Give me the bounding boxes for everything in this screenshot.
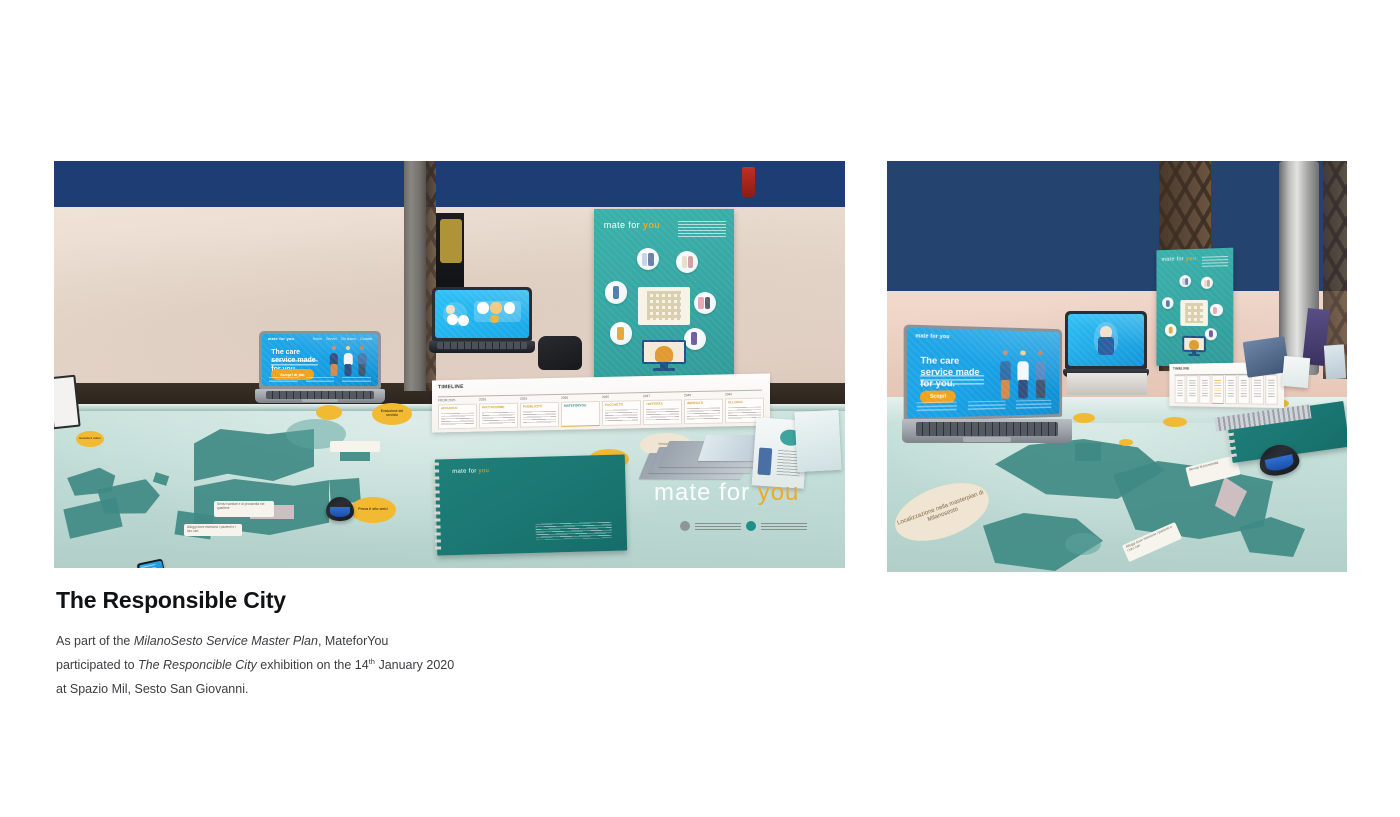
timeline-columns xyxy=(1175,375,1278,405)
bubble-try-site: Prova il sito web! xyxy=(350,497,396,523)
site-nav-links[interactable]: Home Servizi Chi siamo Contatti xyxy=(313,337,372,341)
timeline-card: IMPIEGATI xyxy=(684,398,723,424)
bubble-dot-d xyxy=(1119,439,1133,446)
caption-paragraph: As part of the MilanoSesto Service Maste… xyxy=(56,629,676,701)
laptop-screen[interactable]: mate for you Home Servizi Chi siamo Cont… xyxy=(262,334,378,386)
site-subtext xyxy=(271,360,317,366)
persona-node xyxy=(610,322,632,344)
sponsor-logo-text xyxy=(695,523,741,530)
truss-beam xyxy=(426,161,436,391)
laptop-keyboard[interactable] xyxy=(916,422,1058,436)
backpack xyxy=(538,336,582,370)
photo-exhibition-wide: Localizzazione nella masterplan di Milan… xyxy=(54,161,845,568)
laptop-website: mate for you Home Servizi Chi siamo Cont… xyxy=(259,331,381,403)
caption-block: The Responsible City As part of the Mila… xyxy=(56,588,676,701)
caption-line1-post: , MateforYou xyxy=(318,634,388,648)
timeline-card: AFFIANCO xyxy=(438,404,477,430)
laptop-trackpad[interactable] xyxy=(963,437,1010,442)
poster-monitor-illustration xyxy=(642,340,686,371)
laptop-presentation xyxy=(432,287,532,353)
site-headline: The care service made for you. xyxy=(271,349,322,375)
blue-wall-panels xyxy=(887,161,1347,309)
laptop-lid: mate for you The care service made for y… xyxy=(904,324,1062,421)
poster-mate-for-you: mate for you xyxy=(594,209,734,387)
bubble-dot-a xyxy=(1073,413,1095,423)
timeline-columns: FROM 2025 AFFIANCO 2028 PIATTAFORME 2029… xyxy=(438,392,764,430)
sponsor-logo-icon xyxy=(746,521,756,531)
caption-line2-mid: exhibition on the 14 xyxy=(257,658,369,672)
nav-link[interactable]: Home xyxy=(313,337,322,341)
site-illustration-people xyxy=(328,345,370,375)
fire-extinguisher-icon xyxy=(742,167,755,197)
page-root: Localizzazione nella masterplan di Milan… xyxy=(0,0,1400,817)
timeline-card: PUBBLICITÀ xyxy=(520,402,559,428)
site-cta-button[interactable]: Scopri di più xyxy=(271,369,313,380)
person-illustration xyxy=(998,349,1013,399)
persona-node xyxy=(694,292,716,314)
persona-node xyxy=(676,251,698,273)
persona-node xyxy=(1179,275,1191,287)
laptop-presentation xyxy=(1065,311,1147,377)
brochure-small xyxy=(1282,356,1311,388)
caption-line2-post: January 2020 xyxy=(375,658,454,672)
poster-logo: mate for you xyxy=(604,220,660,230)
computer-mouse[interactable] xyxy=(326,497,354,521)
timeline-card: PIATTAFORME xyxy=(479,403,518,429)
laptop-lid: mate for you Home Servizi Chi siamo Cont… xyxy=(259,331,381,389)
site-illustration-people xyxy=(998,349,1050,399)
laptop-base xyxy=(255,389,384,403)
site-headline: The care service made for you. xyxy=(920,355,990,390)
persona-node xyxy=(1165,324,1177,336)
standee-light xyxy=(1324,344,1346,379)
page-title: The Responsible City xyxy=(56,588,676,613)
photo-exhibition-angled: Localizzazione nella masterplan di Milan… xyxy=(887,161,1347,572)
persona-node xyxy=(1210,304,1222,317)
sponsor-logo-strip xyxy=(680,521,807,531)
laptop-website: mate for you The care service made for y… xyxy=(907,327,1067,443)
poster-persona-ring xyxy=(1161,274,1229,361)
laptop-screen[interactable] xyxy=(435,290,529,338)
timeline-column: 2030 MATEFORYOU xyxy=(561,395,600,427)
persona-node xyxy=(1205,328,1217,341)
site-cta-button[interactable]: Scopri xyxy=(920,391,955,404)
site-navbar: mate for you Home Servizi Chi siamo Cont… xyxy=(268,337,372,341)
poster-center-calendar xyxy=(638,287,690,325)
persona-node xyxy=(1162,297,1174,309)
caption-line1-emphasis: MilanoSesto Service Master Plan xyxy=(134,634,318,648)
bubble-service-evolution: Evoluzione del servizio xyxy=(372,403,412,425)
blue-wall-panels xyxy=(54,161,845,207)
nav-link[interactable]: Chi siamo xyxy=(341,337,357,341)
timeline-card: +OFFERTA xyxy=(643,399,682,425)
site-logo: mate for you xyxy=(268,336,294,341)
site-navbar: mate for you xyxy=(915,333,1052,342)
laptop-trackpad[interactable] xyxy=(302,399,338,402)
person-illustration xyxy=(328,345,340,375)
booklet-mate-for-you: mate for you xyxy=(435,455,627,556)
map-islet xyxy=(1075,443,1101,461)
timeline-column: 2029 PUBBLICITÀ xyxy=(520,396,559,428)
timeline-column: 2035 PACCHETTI xyxy=(602,394,641,426)
laptop-base xyxy=(429,341,535,353)
booklet-logo: mate for you xyxy=(452,468,489,475)
timeline-column: 2028 PIATTAFORME xyxy=(479,397,518,429)
structural-column xyxy=(404,161,426,391)
timeline-title: TIMELINE xyxy=(438,378,764,391)
sponsor-logo-text xyxy=(761,523,807,530)
timeline-card: PACCHETTI xyxy=(602,400,641,426)
person-illustration xyxy=(1033,350,1047,398)
persona-node xyxy=(1201,276,1213,289)
callout-service: Servizi sanitari e di prossimità nel qua… xyxy=(214,501,274,517)
timeline-column: 2040 IMPIEGATI xyxy=(684,392,723,424)
booklet-spiral-binding xyxy=(433,462,441,552)
person-illustration xyxy=(357,345,369,375)
poster-monitor-illustration xyxy=(1182,336,1206,357)
persona-node xyxy=(684,328,706,350)
laptop-lid xyxy=(1065,311,1147,369)
laptop-riser-box xyxy=(1067,373,1147,395)
person-illustration xyxy=(1016,349,1031,398)
laptop-base xyxy=(902,419,1072,443)
callout-map-note xyxy=(330,441,380,452)
laptop-screen[interactable] xyxy=(1068,314,1144,366)
bubble-dot-b xyxy=(1163,417,1187,427)
poster-center-calendar xyxy=(1180,300,1208,326)
laptop-screen[interactable]: mate for you The care service made for y… xyxy=(907,328,1059,419)
laptop-keyboard[interactable] xyxy=(437,342,526,349)
persona-node xyxy=(637,248,659,270)
table-wordmark: mate for you xyxy=(654,479,799,507)
laptop-keyboard[interactable] xyxy=(266,391,375,399)
timeline-card-active: MATEFORYOU xyxy=(561,401,600,427)
bubble-video: Guarda il video xyxy=(76,431,104,447)
caption-line3: at Spazio Mil, Sesto San Giovanni. xyxy=(56,682,248,696)
map-park-circle xyxy=(1065,533,1101,555)
callout-houses: Alloggi dove risiedono i pazienti e i lo… xyxy=(184,524,242,536)
brochure-standing xyxy=(794,410,841,472)
caption-line2-pre: participated to xyxy=(56,658,138,672)
booklet-credits xyxy=(535,522,611,539)
site-logo: mate for you xyxy=(915,333,949,340)
gold-bag xyxy=(440,219,462,263)
nav-link[interactable]: Contatti xyxy=(360,337,372,341)
caption-line2-emphasis: The Responcible City xyxy=(138,658,257,672)
laptop-lid xyxy=(432,287,532,341)
site-footer xyxy=(917,400,1051,413)
poster-persona-ring xyxy=(602,248,725,376)
timeline-column: 2037 +OFFERTA xyxy=(643,393,682,425)
site-footer xyxy=(269,377,371,383)
caption-line1-pre: As part of the xyxy=(56,634,134,648)
person-illustration xyxy=(342,345,354,375)
timeline-column: FROM 2025 AFFIANCO xyxy=(438,398,477,430)
poster-mate-for-you: mate for you xyxy=(1156,248,1233,369)
poster-description-text xyxy=(678,221,726,237)
poster-logo: mate for you xyxy=(1162,256,1197,263)
nav-link[interactable]: Servizi xyxy=(326,337,337,341)
persona-node xyxy=(605,281,627,303)
sponsor-logo-icon xyxy=(680,521,690,531)
poster-description-text xyxy=(1202,256,1229,267)
timeline-board: TIMELINE FROM 2025 AFFIANCO 2028 PIATTAF… xyxy=(432,373,770,432)
bubble-dot-a xyxy=(316,405,342,420)
